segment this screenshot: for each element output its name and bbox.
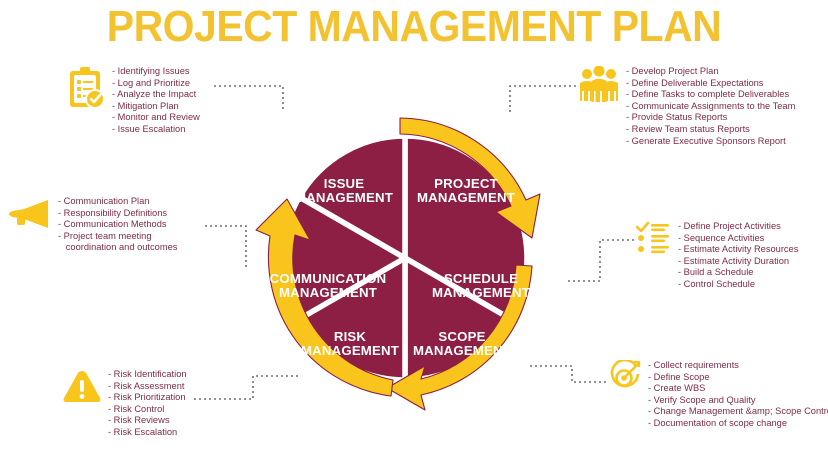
list-item: - Log and Prioritize <box>112 78 200 90</box>
list-item: - Analyze the Impact <box>112 89 200 101</box>
label-scope-management-line2: MANAGEMENT <box>413 343 511 358</box>
annotation-communication-management: - Communication Plan - Responsibility De… <box>8 196 177 254</box>
list-item: - Risk Identification <box>108 369 187 381</box>
label-communication-management-line2: MANAGEMENT <box>279 285 377 300</box>
list-item: - Define Scope <box>648 372 828 384</box>
team-people-icon <box>578 66 620 106</box>
label-risk-management-line1: RISK <box>334 329 367 344</box>
list-item: - Review Team status Reports <box>626 124 795 136</box>
label-project-management-line2: MANAGEMENT <box>417 190 515 205</box>
list-item: - Generate Executive Sponsors Report <box>626 136 795 148</box>
list-item: - Responsibility Definitions <box>58 208 177 220</box>
annotation-project-management: - Develop Project Plan - Define Delivera… <box>578 66 795 147</box>
list-item: - Provide Status Reports <box>626 112 795 124</box>
checklist-icon <box>636 221 672 255</box>
list-item: - Risk Assessment <box>108 381 187 393</box>
warning-triangle-icon <box>62 369 102 407</box>
list-item: - Collect requirements <box>648 360 828 372</box>
label-project-management-line1: PROJECT <box>434 176 498 191</box>
list-item: - Define Project Activities <box>678 221 798 233</box>
list-item: - Define Tasks to complete Deliverables <box>626 89 795 101</box>
list-item: - Control Schedule <box>678 279 798 291</box>
label-scope-management-line1: SCOPE <box>438 329 485 344</box>
annotation-scope-management: - Collect requirements - Define Scope - … <box>608 360 828 430</box>
list-item: - Risk Prioritization <box>108 392 187 404</box>
list-item: - Mitigation Plan <box>112 101 200 113</box>
page-title: PROJECT MANAGEMENT PLAN <box>29 4 799 50</box>
list-item: - Documentation of scope change <box>648 418 828 430</box>
infographic-canvas: PROJECT MANAGEMENT PLAN <box>0 0 828 465</box>
label-communication-management-line1: COMMUNICATION <box>270 271 387 286</box>
risk-bullet-list: - Risk Identification - Risk Assessment … <box>108 369 187 439</box>
list-item: - Identifying Issues <box>112 66 200 78</box>
pm-cycle-wheel: PROJECT MANAGEMENT SCHEDULE MANAGEMENT S… <box>240 88 570 428</box>
list-item: - Develop Project Plan <box>626 66 795 78</box>
scope-bullet-list: - Collect requirements - Define Scope - … <box>648 360 828 430</box>
annotation-schedule-management: - Define Project Activities - Sequence A… <box>636 221 798 291</box>
list-item: - Estimate Activity Duration <box>678 256 798 268</box>
project-bullet-list: - Develop Project Plan - Define Delivera… <box>626 66 795 147</box>
list-item: - Verify Scope and Quality <box>648 395 828 407</box>
list-item: - Communication Plan <box>58 196 177 208</box>
list-item: - Issue Escalation <box>112 124 200 136</box>
clipboard-check-icon <box>66 66 106 110</box>
list-item: - Risk Reviews <box>108 415 187 427</box>
annotation-issue-management: - Identifying Issues - Log and Prioritiz… <box>66 66 200 136</box>
label-schedule-management-line1: SCHEDULE <box>444 271 518 286</box>
list-item: - Create WBS <box>648 383 828 395</box>
list-item: - Change Management &amp; Scope Control <box>648 406 828 418</box>
label-issue-management-line1: ISSUE <box>324 176 365 191</box>
label-schedule-management-line2: MANAGEMENT <box>432 285 530 300</box>
list-item: - Risk Control <box>108 404 187 416</box>
list-item: - Project team meeting coordination and … <box>58 231 177 254</box>
label-risk-management-line2: MANAGEMENT <box>301 343 399 358</box>
schedule-bullet-list: - Define Project Activities - Sequence A… <box>678 221 798 291</box>
issue-bullet-list: - Identifying Issues - Log and Prioritiz… <box>112 66 200 136</box>
list-item: - Sequence Activities <box>678 233 798 245</box>
list-item: - Risk Escalation <box>108 427 187 439</box>
list-item: - Communication Methods <box>58 219 177 231</box>
target-icon <box>608 360 642 394</box>
label-issue-management-line2: MANAGEMENT <box>295 190 393 205</box>
megaphone-icon <box>8 196 52 230</box>
list-item: - Estimate Activity Resources <box>678 244 798 256</box>
communication-bullet-list: - Communication Plan - Responsibility De… <box>58 196 177 254</box>
list-item: - Define Deliverable Expectations <box>626 78 795 90</box>
connector-schedule <box>565 240 634 281</box>
list-item: - Build a Schedule <box>678 267 798 279</box>
list-item: - Monitor and Review <box>112 112 200 124</box>
annotation-risk-management: - Risk Identification - Risk Assessment … <box>62 369 187 439</box>
list-item: - Communicate Assignments to the Team <box>626 101 795 113</box>
